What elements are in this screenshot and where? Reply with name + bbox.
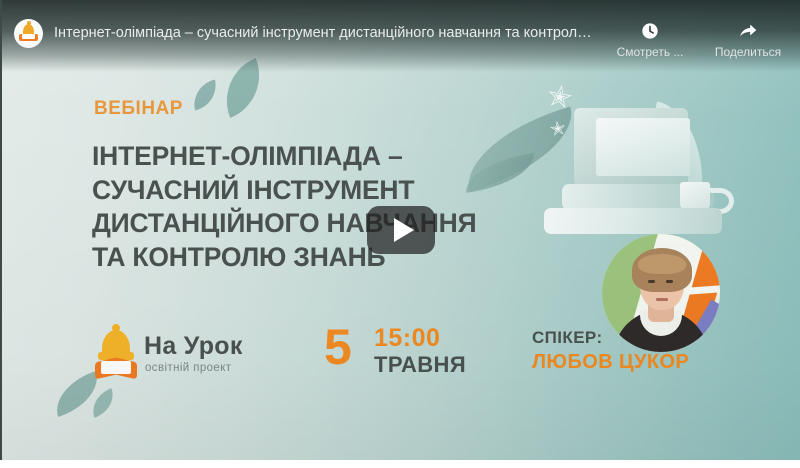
desk-illustration	[562, 108, 732, 240]
brand-name: На Урок	[144, 332, 243, 361]
event-date-block: 5 15:00 ТРАВНЯ	[324, 322, 504, 382]
play-icon	[394, 218, 414, 242]
poster-headline: ІНТЕРНЕТ-ОЛІМПІАДА – СУЧАСНИЙ ІНСТРУМЕНТ…	[92, 140, 522, 274]
speaker-title: СПІКЕР:	[532, 328, 712, 348]
clock-icon	[640, 20, 660, 42]
video-title[interactable]: Інтернет-олімпіада – сучасний інструмент…	[54, 18, 612, 48]
player-actions: Смотреть ... Поделиться	[612, 18, 786, 59]
brand-tagline: освітній проект	[145, 362, 231, 374]
event-time: 15:00	[374, 324, 440, 353]
share-button[interactable]: Поделиться	[710, 20, 786, 59]
poster-kicker: ВЕБІНАР	[94, 98, 183, 120]
bell-and-book-icon	[94, 328, 138, 380]
monitor-icon	[574, 108, 688, 186]
share-arrow-icon	[737, 20, 759, 42]
speaker-caption: СПІКЕР: ЛЮБОВ ЦУКОР	[532, 328, 712, 374]
watch-later-label: Смотреть ...	[617, 45, 684, 59]
event-day: 5	[324, 322, 352, 372]
share-label: Поделиться	[715, 45, 781, 59]
speaker-name: ЛЮБОВ ЦУКОР	[532, 351, 712, 374]
channel-avatar[interactable]	[14, 19, 43, 48]
play-button[interactable]	[367, 206, 435, 254]
leaf-decoration-icon	[190, 80, 221, 111]
event-month: ТРАВНЯ	[374, 352, 466, 378]
player-top-bar: Інтернет-олімпіада – сучасний інструмент…	[2, 0, 800, 72]
book-stack-icon	[544, 208, 722, 234]
monitor-screen-icon	[596, 118, 690, 176]
watch-later-button[interactable]: Смотреть ...	[612, 20, 688, 59]
video-player[interactable]: ✭ ✭ ВЕБІНАР ІНТЕРНЕТ-ОЛІМПІАДА – СУЧАСНИ…	[0, 0, 800, 460]
brand-logo: На Урок освітній проект	[94, 328, 304, 386]
